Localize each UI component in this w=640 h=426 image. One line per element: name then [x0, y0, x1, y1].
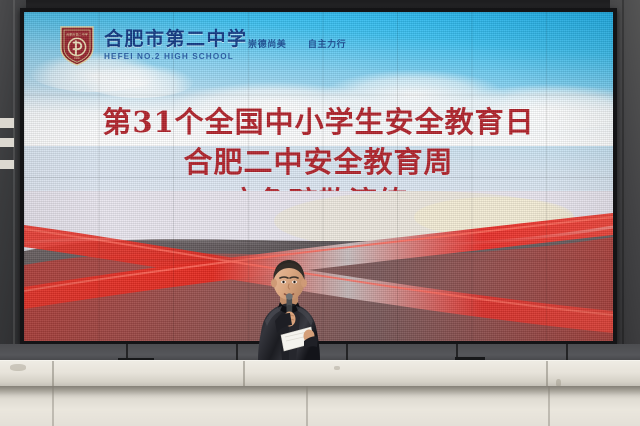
motto-right: 自主力行	[308, 37, 346, 50]
wall-panel-strip	[0, 160, 14, 169]
photo-scene: 合肥市第二中学 1902 合肥市第二中学 HEFEI NO.2 HIGH SCH…	[0, 0, 640, 426]
lower-stone-wall	[0, 386, 640, 426]
svg-text:合肥市第二中学: 合肥市第二中学	[66, 32, 88, 37]
wall-seam	[52, 386, 54, 426]
speaker-person	[247, 255, 331, 360]
stone-ledge	[0, 360, 640, 388]
ledge-seam	[243, 361, 245, 388]
wall-shadow-band	[0, 386, 640, 399]
title-line-2: 合肥二中安全教育周	[24, 148, 613, 178]
ledge-seam	[546, 361, 548, 388]
title-line-1: 第31个全国中小学生安全教育日	[24, 108, 613, 138]
school-shield-crest-icon: 合肥市第二中学 1902	[58, 24, 96, 66]
school-name-cn: 合肥市第二中学	[104, 30, 248, 50]
ledge-stain	[10, 364, 26, 371]
wall-seam	[548, 386, 550, 426]
school-header: 合肥市第二中学 1902 合肥市第二中学 HEFEI NO.2 HIGH SCH…	[58, 24, 248, 66]
wall-panel-strip	[0, 138, 14, 147]
school-name-block: 合肥市第二中学 HEFEI NO.2 HIGH SCHOOL	[104, 29, 248, 62]
school-name-en: HEFEI NO.2 HIGH SCHOOL	[104, 52, 250, 61]
wall-seam	[306, 386, 308, 426]
ledge-stain	[334, 366, 340, 370]
school-motto: 崇德尚美 自主力行	[248, 37, 346, 50]
svg-text:1902: 1902	[74, 56, 80, 60]
ledge-seam	[52, 361, 54, 388]
motto-left: 崇德尚美	[248, 37, 286, 50]
wall-panel-strip	[0, 118, 14, 128]
